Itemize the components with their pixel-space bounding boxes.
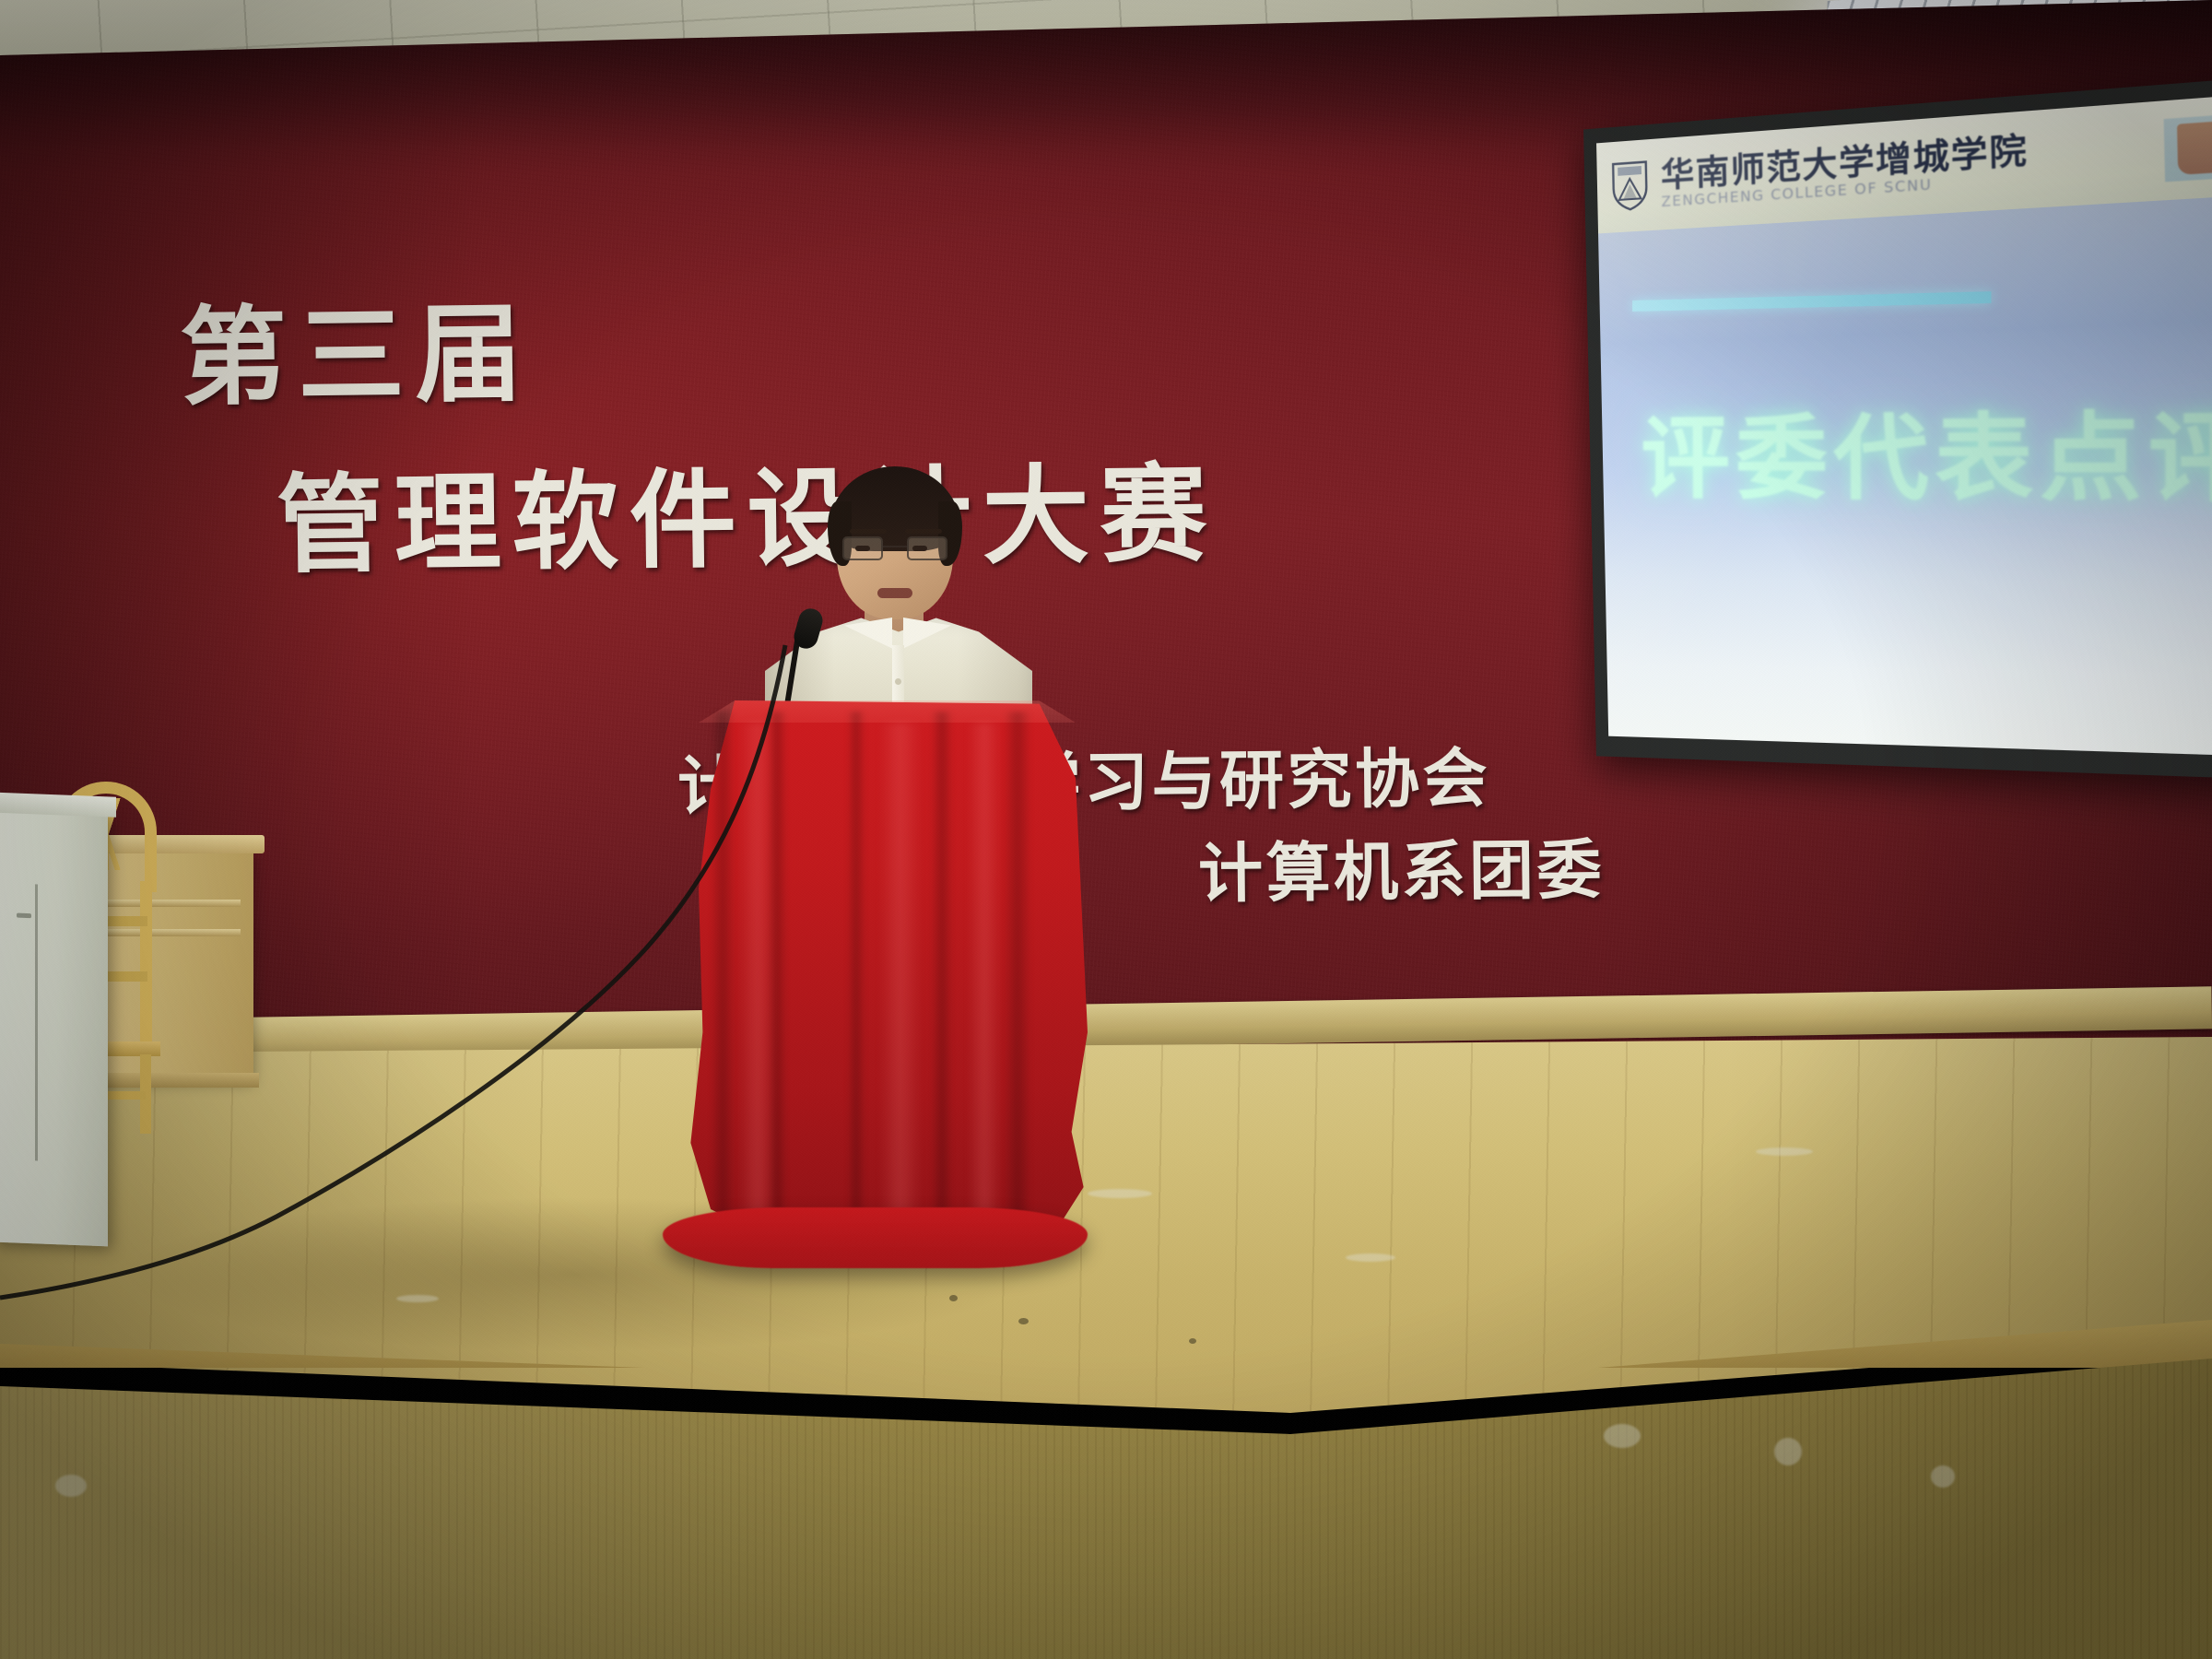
chair-back-stile bbox=[140, 881, 152, 1043]
stage-face-scuff bbox=[55, 1475, 87, 1497]
speaker-figure bbox=[765, 461, 1032, 728]
university-name-block: 华南师范大学增城学院 ZENGCHENG COLLEGE OF SCNU bbox=[1661, 133, 2030, 209]
white-storage-cabinet[interactable] bbox=[0, 809, 108, 1247]
college-crest-emblem bbox=[2164, 112, 2212, 182]
eye-right bbox=[912, 546, 927, 551]
photo-scene: 第三届 管理软件设计大赛 计算机技术学习与研究协会 计算机系团委 华南师范大学增… bbox=[0, 0, 2212, 1659]
university-shield-logo bbox=[1609, 159, 1651, 213]
mouth bbox=[877, 588, 912, 598]
stage-floor-shading bbox=[0, 1037, 2212, 1433]
floor-scuff bbox=[1088, 1189, 1152, 1198]
glasses-bridge bbox=[883, 546, 907, 547]
drape-fold bbox=[847, 712, 865, 1242]
crest-inner-shape bbox=[2177, 119, 2212, 174]
banner-line-1: 第三届 bbox=[179, 267, 534, 427]
drape-highlight bbox=[739, 723, 776, 1231]
floor-speck bbox=[1189, 1338, 1196, 1344]
banner-line-4: 计算机系团委 bbox=[1197, 818, 1605, 916]
floor-scuff bbox=[1346, 1253, 1395, 1262]
slide-title: 评委代表点评 bbox=[1641, 378, 2212, 521]
banner-line-2: 管理软件设计大赛 bbox=[276, 428, 1218, 594]
stage-face-scuff bbox=[1774, 1438, 1802, 1465]
eye-left bbox=[855, 546, 870, 551]
red-velvet-drape bbox=[687, 700, 1088, 1253]
projection-screen-frame: 华南师范大学增城学院 ZENGCHENG COLLEGE OF SCNU 评委代… bbox=[1583, 75, 2212, 781]
eyebrow-left bbox=[850, 529, 887, 534]
eyebrow-right bbox=[905, 529, 942, 534]
floor-scuff bbox=[396, 1295, 439, 1302]
floor-speck bbox=[1018, 1318, 1029, 1324]
drape-fold bbox=[931, 712, 953, 1242]
projection-screen-surface: 华南师范大学增城学院 ZENGCHENG COLLEGE OF SCNU 评委代… bbox=[1596, 92, 2212, 757]
floor-speck bbox=[949, 1295, 958, 1301]
drape-highlight bbox=[879, 723, 922, 1231]
drape-pooled-hem bbox=[663, 1207, 1088, 1268]
stage-face-scuff bbox=[1604, 1424, 1641, 1448]
drape-fold bbox=[711, 712, 735, 1242]
stage-face-scuff bbox=[1931, 1465, 1955, 1488]
slide-accent-bar bbox=[1632, 291, 1991, 312]
drape-fold bbox=[1004, 712, 1031, 1242]
cabinet-handle[interactable] bbox=[17, 913, 31, 919]
floor-scuff bbox=[1756, 1147, 1813, 1156]
drape-highlight bbox=[968, 723, 1001, 1231]
cabinet-top bbox=[0, 792, 116, 817]
cabinet-door-seam bbox=[35, 884, 38, 1160]
